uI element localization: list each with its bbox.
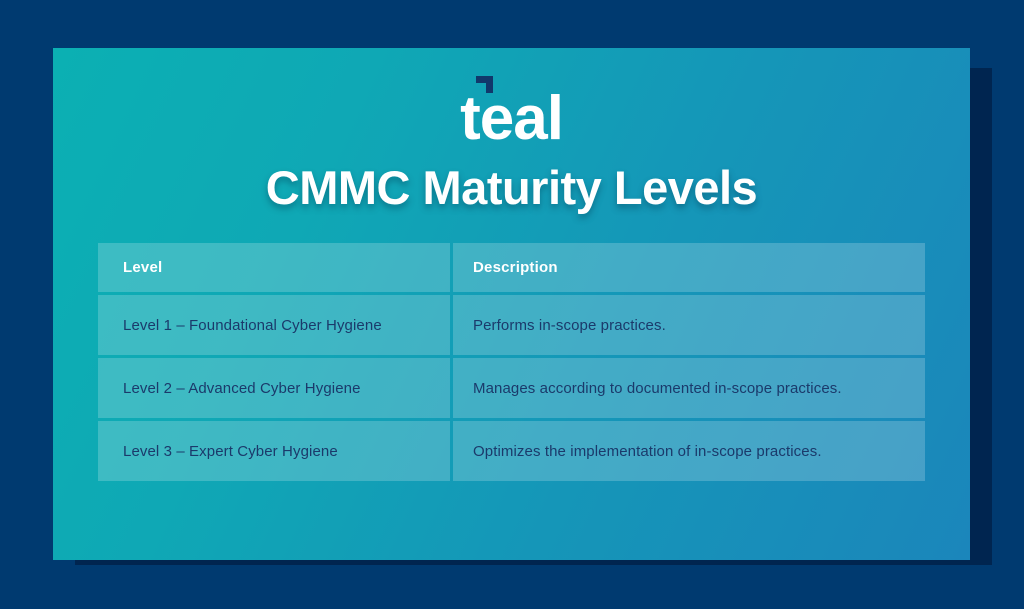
column-header-level: Level <box>98 243 450 292</box>
slide-canvas: teal CMMC Maturity Levels Level Descript… <box>0 0 1024 609</box>
cell-level: Level 2 – Advanced Cyber Hygiene <box>98 358 450 418</box>
cell-level-text: Level 1 – Foundational Cyber Hygiene <box>123 317 382 334</box>
logo-text: teal <box>460 84 563 153</box>
content-card: teal CMMC Maturity Levels Level Descript… <box>53 48 970 560</box>
table-row: Level 1 – Foundational Cyber Hygiene Per… <box>98 295 925 355</box>
maturity-levels-table: Level Description Level 1 – Foundational… <box>98 243 925 481</box>
table-row: Level 3 – Expert Cyber Hygiene Optimizes… <box>98 421 925 481</box>
cell-level-text: Level 3 – Expert Cyber Hygiene <box>123 443 338 460</box>
table-row: Level 2 – Advanced Cyber Hygiene Manages… <box>98 358 925 418</box>
column-header-level-label: Level <box>123 259 162 276</box>
cell-level: Level 3 – Expert Cyber Hygiene <box>98 421 450 481</box>
cell-description-text: Manages according to documented in-scope… <box>473 380 842 397</box>
cell-description: Optimizes the implementation of in-scope… <box>453 421 925 481</box>
cell-level: Level 1 – Foundational Cyber Hygiene <box>98 295 450 355</box>
logo-wordmark: teal <box>460 88 563 150</box>
page-title: CMMC Maturity Levels <box>53 160 970 216</box>
column-header-description-label: Description <box>473 259 558 276</box>
teal-corner-flag-icon <box>476 76 493 93</box>
brand-logo: teal <box>53 88 970 150</box>
cell-level-text: Level 2 – Advanced Cyber Hygiene <box>123 380 361 397</box>
cell-description-text: Optimizes the implementation of in-scope… <box>473 443 822 460</box>
cell-description: Manages according to documented in-scope… <box>453 358 925 418</box>
cell-description: Performs in-scope practices. <box>453 295 925 355</box>
column-header-description: Description <box>453 243 925 292</box>
table-header-row: Level Description <box>98 243 925 292</box>
cell-description-text: Performs in-scope practices. <box>473 317 666 334</box>
